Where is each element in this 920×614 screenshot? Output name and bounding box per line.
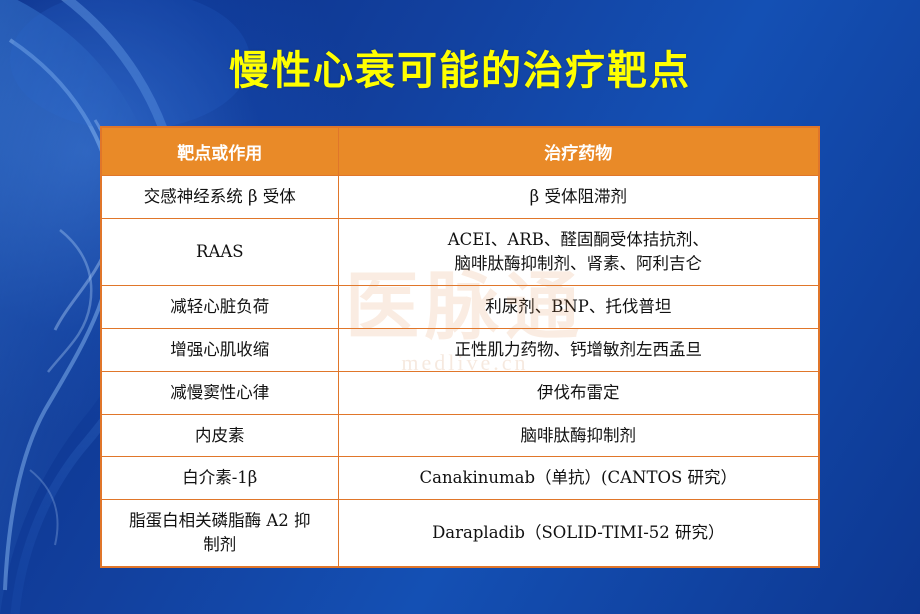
column-header-drugs: 治疗药物 — [338, 128, 818, 176]
cell-text: β 受体阻滞剂 — [347, 185, 810, 209]
table-row: 减轻心脏负荷 利尿剂、BNP、托伐普坦 — [102, 285, 819, 328]
table-row: 增强心肌收缩 正性肌力药物、钙增敏剂左西孟旦 — [102, 328, 819, 371]
cell-target: 减轻心脏负荷 — [102, 285, 339, 328]
cell-text: RAAS — [110, 240, 330, 264]
cell-text: 利尿剂、BNP、托伐普坦 — [347, 295, 810, 319]
cell-text: 白介素-1β — [110, 466, 330, 490]
cell-text: 内皮素 — [110, 424, 330, 448]
cell-drugs: Canakinumab（单抗）(CANTOS 研究） — [338, 457, 818, 500]
cell-text: 减慢窦性心律 — [110, 381, 330, 405]
cell-text: 正性肌力药物、钙增敏剂左西孟旦 — [347, 338, 810, 362]
cell-text: 制剂 — [110, 533, 330, 557]
cell-drugs: β 受体阻滞剂 — [338, 176, 818, 219]
cell-target: 脂蛋白相关磷脂酶 A2 抑 制剂 — [102, 500, 339, 567]
table-row: 白介素-1β Canakinumab（单抗）(CANTOS 研究） — [102, 457, 819, 500]
cell-text: Canakinumab（单抗）(CANTOS 研究） — [347, 466, 810, 490]
cell-drugs: 正性肌力药物、钙增敏剂左西孟旦 — [338, 328, 818, 371]
cell-text: 脑啡肽酶抑制剂、肾素、阿利吉仑 — [347, 252, 810, 276]
table-row: 内皮素 脑啡肽酶抑制剂 — [102, 414, 819, 457]
cell-text: ACEI、ARB、醛固酮受体拮抗剂、 — [347, 228, 810, 252]
cell-drugs: Darapladib（SOLID-TIMI-52 研究） — [338, 500, 818, 567]
table-row: RAAS ACEI、ARB、醛固酮受体拮抗剂、 脑啡肽酶抑制剂、肾素、阿利吉仑 — [102, 218, 819, 285]
cell-text: 脑啡肽酶抑制剂 — [347, 424, 810, 448]
cell-text: 脂蛋白相关磷脂酶 A2 抑 — [110, 509, 330, 533]
treatment-targets-table: 靶点或作用 治疗药物 交感神经系统 β 受体 β 受体阻滞剂 RAAS — [100, 126, 820, 568]
table-row: 脂蛋白相关磷脂酶 A2 抑 制剂 Darapladib（SOLID-TIMI-5… — [102, 500, 819, 567]
cell-target: 减慢窦性心律 — [102, 371, 339, 414]
cell-drugs: ACEI、ARB、醛固酮受体拮抗剂、 脑啡肽酶抑制剂、肾素、阿利吉仑 — [338, 218, 818, 285]
cell-drugs: 脑啡肽酶抑制剂 — [338, 414, 818, 457]
cell-target: 增强心肌收缩 — [102, 328, 339, 371]
cell-drugs: 利尿剂、BNP、托伐普坦 — [338, 285, 818, 328]
cell-target: 白介素-1β — [102, 457, 339, 500]
cell-target: RAAS — [102, 218, 339, 285]
column-header-target: 靶点或作用 — [102, 128, 339, 176]
page-title: 慢性心衰可能的治疗靶点 — [0, 38, 920, 96]
cell-text: Darapladib（SOLID-TIMI-52 研究） — [347, 521, 810, 545]
slide: 慢性心衰可能的治疗靶点 靶点或作用 治疗药物 交感神经系统 β 受体 β 受体阻… — [0, 0, 920, 614]
table-row: 交感神经系统 β 受体 β 受体阻滞剂 — [102, 176, 819, 219]
table-row: 减慢窦性心律 伊伐布雷定 — [102, 371, 819, 414]
cell-text: 增强心肌收缩 — [110, 338, 330, 362]
cell-text: 减轻心脏负荷 — [110, 295, 330, 319]
table-header-row: 靶点或作用 治疗药物 — [102, 128, 819, 176]
cell-drugs: 伊伐布雷定 — [338, 371, 818, 414]
cell-target: 内皮素 — [102, 414, 339, 457]
cell-text: 交感神经系统 β 受体 — [110, 185, 330, 209]
cell-text: 伊伐布雷定 — [347, 381, 810, 405]
cell-target: 交感神经系统 β 受体 — [102, 176, 339, 219]
